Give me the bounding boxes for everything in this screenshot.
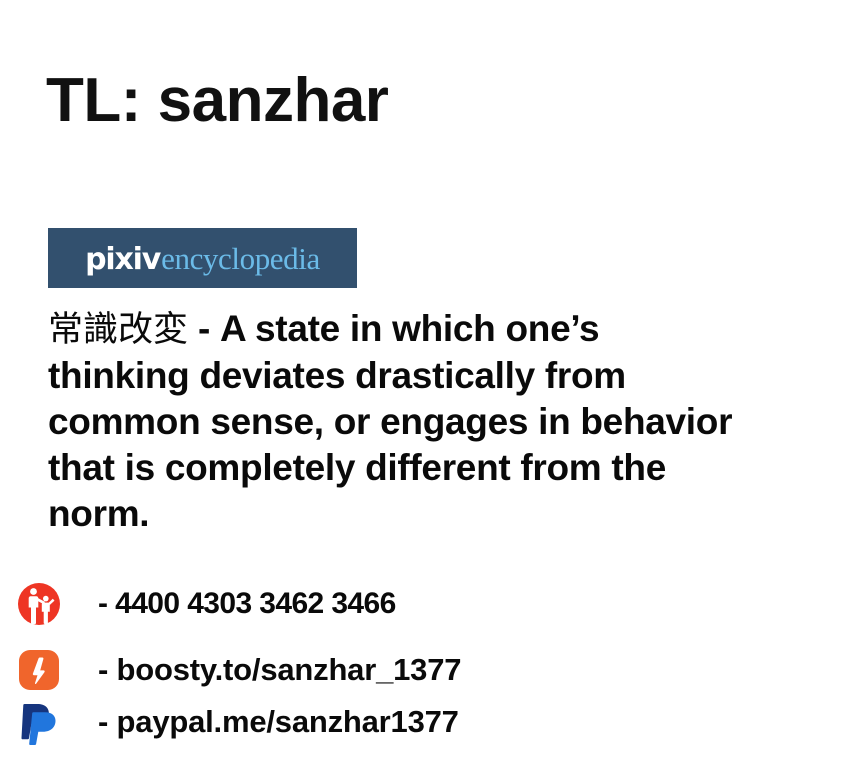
card-number-text: - 4400 4303 3462 3466 <box>98 587 396 621</box>
definition-block: 常識改変 - A state in which one’s thinking d… <box>48 306 748 537</box>
boosty-link-text[interactable]: - boosty.to/sanzhar_1377 <box>98 652 461 688</box>
pixiv-encyclopedia-wordmark: pixiv encyclopedia <box>85 243 320 275</box>
definition-separator: - <box>188 308 220 349</box>
kaspi-donation-icon <box>16 581 62 627</box>
list-item[interactable]: - boosty.to/sanzhar_1377 <box>16 642 716 698</box>
page-title: TL: sanzhar <box>46 68 388 133</box>
support-links-list: - 4400 4303 3462 3466 - boosty.to/sanzha… <box>16 576 716 750</box>
pixiv-wordmark-text: pixiv <box>85 245 160 275</box>
list-item[interactable]: - 4400 4303 3462 3466 <box>16 576 716 632</box>
paypal-icon <box>16 699 62 745</box>
definition-term-japanese: 常識改変 <box>48 310 188 350</box>
encyclopedia-wordmark-text: encyclopedia <box>161 243 320 274</box>
slide-canvas: TL: sanzhar pixiv encyclopedia 常識改変 - A … <box>0 0 846 772</box>
pixiv-encyclopedia-banner: pixiv encyclopedia <box>48 228 357 288</box>
paypal-link-text[interactable]: - paypal.me/sanzhar1377 <box>98 704 459 740</box>
list-item[interactable]: - paypal.me/sanzhar1377 <box>16 694 716 750</box>
boosty-icon <box>16 647 62 693</box>
